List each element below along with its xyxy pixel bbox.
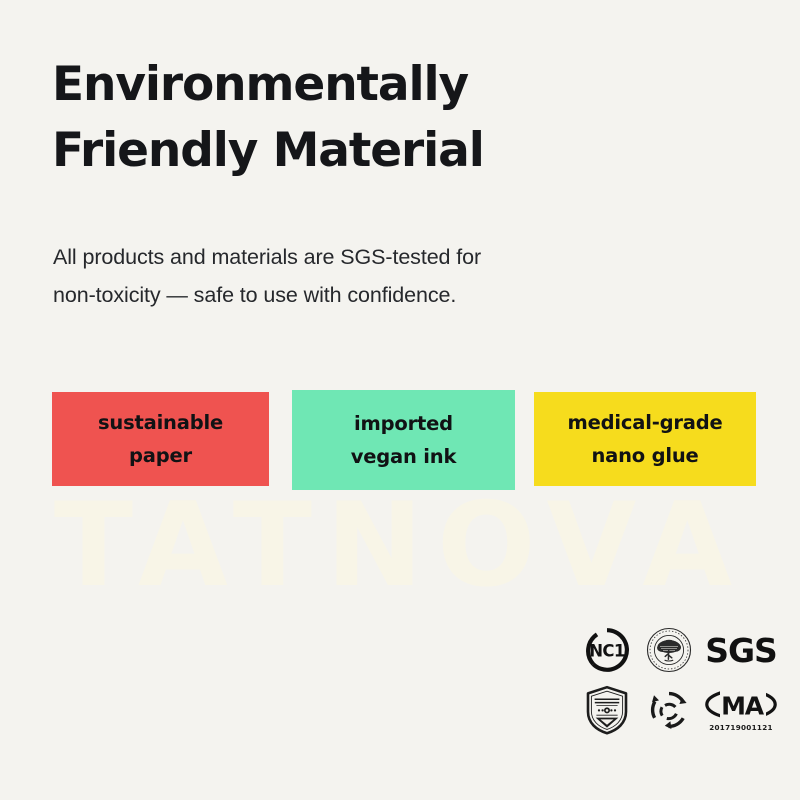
badge-label-line-2: nano glue (591, 439, 698, 472)
badge-label-line-2: paper (129, 439, 192, 472)
page-title: Environmentally Friendly Material (52, 52, 692, 184)
material-badge-imported-vegan-ink: imported vegan ink (292, 390, 515, 490)
cma-certificate-number: 201719001121 (709, 724, 773, 731)
shield-chevron-icon (585, 685, 629, 735)
material-badge-medical-grade-nano-glue: medical-grade nano glue (534, 392, 756, 486)
cma-icon: MA 201719001121 (704, 688, 778, 731)
forest-tree-seal-icon (645, 626, 693, 674)
svg-text:NC1: NC1 (589, 642, 625, 661)
recycling-icon (645, 686, 693, 734)
page-title-line-2: Friendly Material (52, 118, 692, 184)
nc1-icon: NC1 (584, 627, 630, 673)
certification-logo-group: NC1 SGS (576, 620, 782, 748)
material-badge-group: sustainable paper imported vegan ink med… (52, 390, 756, 490)
description-text: All products and materials are SGS-teste… (53, 238, 673, 314)
badge-label-line-1: sustainable (98, 406, 223, 439)
description-line-1: All products and materials are SGS-teste… (53, 238, 673, 276)
badge-label-line-1: imported (354, 407, 453, 440)
sgs-icon: SGS (705, 634, 777, 667)
brand-watermark: TATNOVA (0, 486, 800, 606)
page-title-line-1: Environmentally (52, 52, 692, 118)
material-badge-sustainable-paper: sustainable paper (52, 392, 269, 486)
badge-label-line-2: vegan ink (351, 440, 456, 473)
svg-text:MA: MA (721, 692, 765, 721)
badge-label-line-1: medical-grade (568, 406, 723, 439)
description-line-2: non-toxicity — safe to use with confiden… (53, 276, 673, 314)
